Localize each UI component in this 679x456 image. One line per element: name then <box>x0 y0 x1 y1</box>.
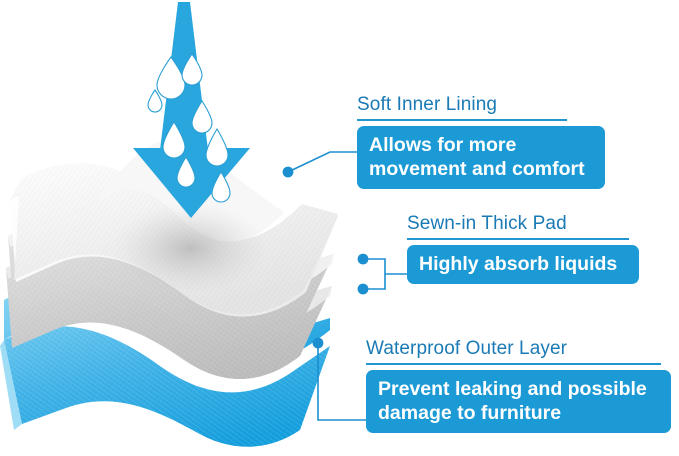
callout-box-soft-inner-lining: Allows for more movement and comfort <box>357 126 605 189</box>
callout-heading-soft-inner-lining: Soft Inner Lining <box>357 93 605 116</box>
callout-underline-waterproof-outer-layer <box>366 363 661 365</box>
connector-line-2 <box>363 259 385 289</box>
callout-underline-soft-inner-lining <box>357 119 567 121</box>
callout-underline-sewn-in-thick-pad <box>407 238 629 240</box>
callout-box-line: Highly absorb liquids <box>419 252 627 276</box>
callout-waterproof-outer-layer: Waterproof Outer Layer Prevent leaking a… <box>366 337 671 433</box>
callout-box-line: movement and comfort <box>369 157 593 181</box>
product-feature-infographic: Soft Inner Lining Allows for more moveme… <box>0 0 679 456</box>
callout-heading-sewn-in-thick-pad: Sewn-in Thick Pad <box>407 212 639 235</box>
callout-box-line: Allows for more <box>369 133 593 157</box>
layered-fabric-illustration <box>0 0 360 456</box>
callout-sewn-in-thick-pad: Sewn-in Thick Pad Highly absorb liquids <box>407 212 639 284</box>
callout-box-waterproof-outer-layer: Prevent leaking and possible damage to f… <box>366 370 671 433</box>
callout-heading-waterproof-outer-layer: Waterproof Outer Layer <box>366 337 671 360</box>
callout-box-line: damage to furniture <box>378 401 659 425</box>
callout-box-sewn-in-thick-pad: Highly absorb liquids <box>407 245 639 284</box>
callout-box-line: Prevent leaking and possible <box>378 377 659 401</box>
callout-soft-inner-lining: Soft Inner Lining Allows for more moveme… <box>357 93 605 189</box>
